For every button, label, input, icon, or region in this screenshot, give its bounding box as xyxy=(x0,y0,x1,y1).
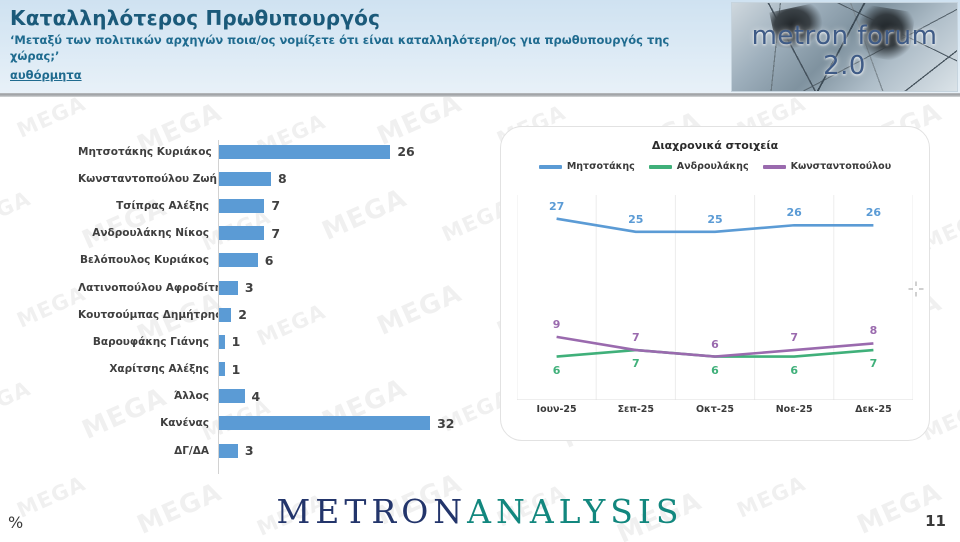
legend-label: Κωνσταντοπούλου xyxy=(791,161,892,172)
bar-category-label: Άλλος xyxy=(78,390,218,402)
bar-fill xyxy=(218,199,264,213)
watermark-text: MEGA xyxy=(13,91,89,143)
bar-value-label: 32 xyxy=(437,416,454,431)
data-point-label: 8 xyxy=(870,324,878,337)
bar-row: Τσίπρας Αλέξης7 xyxy=(78,192,478,219)
bar-track: 1 xyxy=(218,356,478,383)
x-axis-tick-label: Οκτ-25 xyxy=(675,404,754,420)
legend-label: Ανδρουλάκης xyxy=(677,161,749,172)
bar-category-label: Λατινοπούλου Αφροδίτη xyxy=(78,282,218,294)
data-point-label: 6 xyxy=(711,364,719,377)
data-point-label: 26 xyxy=(866,206,881,219)
bar-row: Λατινοπούλου Αφροδίτη3 xyxy=(78,274,478,301)
legend-label: Μητσοτάκης xyxy=(567,161,635,172)
bar-category-label: Μητσοτάκης Κυριάκος xyxy=(78,146,218,158)
brand-analysis: ANALYSIS xyxy=(467,492,683,531)
bar-value-label: 7 xyxy=(271,198,280,213)
bar-fill xyxy=(218,308,231,322)
bar-fill xyxy=(218,444,238,458)
watermark-text: MEGA xyxy=(0,376,34,428)
bar-row: Μητσοτάκης Κυριάκος26 xyxy=(78,138,478,165)
x-axis-tick-label: Ιουν-25 xyxy=(517,404,596,420)
legend-swatch xyxy=(539,165,562,169)
data-point-label: 7 xyxy=(790,331,798,344)
bar-fill xyxy=(218,172,271,186)
bar-row: Βελόπουλος Κυριάκος6 xyxy=(78,247,478,274)
legend-item: Κωνσταντοπούλου xyxy=(763,161,892,172)
page-number: 11 xyxy=(925,512,946,530)
bar-fill xyxy=(218,281,238,295)
bar-value-label: 3 xyxy=(245,280,254,295)
bar-row: Χαρίτσης Αλέξης1 xyxy=(78,356,478,383)
bar-row: Κανένας32 xyxy=(78,410,478,437)
bar-row: ΔΓ/ΔΑ3 xyxy=(78,437,478,464)
data-point-label: 26 xyxy=(787,206,802,219)
bar-fill xyxy=(218,416,430,430)
bar-category-label: ΔΓ/ΔΑ xyxy=(78,445,218,457)
brand-metron: METRON xyxy=(276,492,467,531)
bar-value-label: 7 xyxy=(271,226,280,241)
x-axis-tick-label: Σεπ-25 xyxy=(596,404,675,420)
bar-value-label: 6 xyxy=(265,253,274,268)
x-axis-tick-label: Δεκ-25 xyxy=(834,404,913,420)
bar-category-label: Βελόπουλος Κυριάκος xyxy=(78,254,218,266)
page-title: Καταλληλότερος Πρωθυπουργός xyxy=(10,6,710,30)
bar-value-label: 1 xyxy=(232,334,241,349)
data-point-label: 6 xyxy=(790,364,798,377)
legend-swatch xyxy=(649,165,672,169)
bar-row: Ανδρουλάκης Νίκος7 xyxy=(78,220,478,247)
bar-value-label: 26 xyxy=(397,144,414,159)
header-separator-line xyxy=(0,93,960,97)
bar-row: Κωνσταντοπούλου Ζωή8 xyxy=(78,165,478,192)
bar-track: 8 xyxy=(218,165,478,192)
bar-category-label: Κωνσταντοπούλου Ζωή xyxy=(78,173,218,185)
move-crosshair-icon[interactable] xyxy=(908,281,924,297)
trend-chart-card: Διαχρονικά στοιχεία ΜητσοτάκηςΑνδρουλάκη… xyxy=(500,126,930,441)
bar-track: 1 xyxy=(218,328,478,355)
data-point-label: 7 xyxy=(632,331,640,344)
bar-row: Άλλος4 xyxy=(78,383,478,410)
bar-track: 32 xyxy=(218,410,478,437)
bar-fill xyxy=(218,145,390,159)
trend-chart-plot-area: 27252526266766797678 xyxy=(517,195,913,400)
bar-value-label: 8 xyxy=(278,171,287,186)
data-point-label: 25 xyxy=(628,213,643,226)
bar-chart-axis-line xyxy=(218,140,219,474)
bar-track: 3 xyxy=(218,274,478,301)
bar-fill xyxy=(218,253,258,267)
metron-forum-logo: metron forum 2.0 xyxy=(731,2,958,92)
data-point-label: 7 xyxy=(632,357,640,370)
x-axis-tick-label: Νοε-25 xyxy=(755,404,834,420)
bar-track: 7 xyxy=(218,220,478,247)
bar-category-label: Ανδρουλάκης Νίκος xyxy=(78,227,218,239)
bar-category-label: Χαρίτσης Αλέξης xyxy=(78,363,218,375)
bar-row: Κουτσούμπας Δημήτρης2 xyxy=(78,301,478,328)
data-point-label: 6 xyxy=(711,338,719,351)
legend-item: Μητσοτάκης xyxy=(539,161,635,172)
bar-track: 26 xyxy=(218,138,478,165)
bar-track: 6 xyxy=(218,247,478,274)
data-point-label: 9 xyxy=(553,318,561,331)
metronanalysis-logo: METRONANALYSIS xyxy=(0,492,960,531)
bar-track: 4 xyxy=(218,383,478,410)
legend-swatch xyxy=(763,165,786,169)
logo-text: metron forum 2.0 xyxy=(732,21,957,81)
trend-chart-title: Διαχρονικά στοιχεία xyxy=(501,139,929,152)
bar-track: 7 xyxy=(218,192,478,219)
page-subtitle: ‘Μεταξύ των πολιτικών αρχηγών ποια/ος νο… xyxy=(10,33,676,64)
bar-category-label: Κουτσούμπας Δημήτρης xyxy=(78,309,218,321)
bar-track: 2 xyxy=(218,301,478,328)
bar-value-label: 2 xyxy=(238,307,247,322)
bar-track: 3 xyxy=(218,437,478,464)
bar-fill xyxy=(218,226,264,240)
bar-value-label: 4 xyxy=(252,389,261,404)
data-point-label: 6 xyxy=(553,364,561,377)
watermark-text: MEGA xyxy=(0,186,34,238)
trend-chart-x-axis: Ιουν-25Σεπ-25Οκτ-25Νοε-25Δεκ-25 xyxy=(517,404,913,420)
data-point-label: 25 xyxy=(707,213,722,226)
legend-item: Ανδρουλάκης xyxy=(649,161,749,172)
bar-category-label: Βαρουφάκης Γιάνης xyxy=(78,336,218,348)
trend-chart-legend: ΜητσοτάκηςΑνδρουλάκηςΚωνσταντοπούλου xyxy=(501,161,929,172)
data-point-label: 27 xyxy=(549,200,564,213)
data-point-label: 7 xyxy=(870,357,878,370)
page-note: αυθόρμητα xyxy=(10,68,82,83)
bar-category-label: Κανένας xyxy=(78,417,218,429)
bar-row: Βαρουφάκης Γιάνης1 xyxy=(78,328,478,355)
bar-fill xyxy=(218,389,245,403)
bar-value-label: 1 xyxy=(232,362,241,377)
bar-value-label: 3 xyxy=(245,443,254,458)
header-text-block: Καταλληλότερος Πρωθυπουργός ‘Μεταξύ των … xyxy=(10,6,710,83)
bar-chart-suitable-pm: Μητσοτάκης Κυριάκος26Κωνσταντοπούλου Ζωή… xyxy=(78,138,478,473)
bar-category-label: Τσίπρας Αλέξης xyxy=(78,200,218,212)
